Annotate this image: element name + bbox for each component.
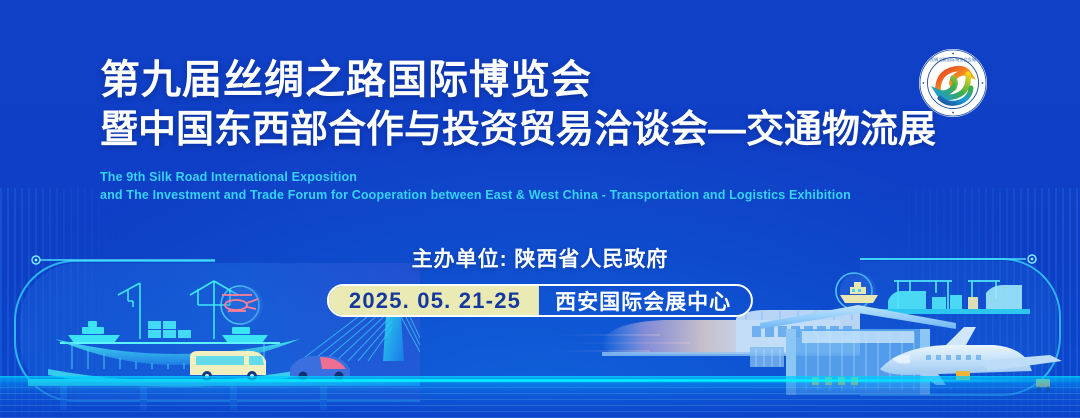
event-venue: 西安国际会展中心 — [539, 286, 751, 315]
subtitle-line-2: and The Investment and Trade Forum for C… — [100, 186, 1030, 204]
svg-text:丝绸之路国际博览会会徽: 丝绸之路国际博览会会徽 — [930, 56, 977, 63]
english-subtitle: The 9th Silk Road International Expositi… — [100, 168, 1030, 204]
silk-road-expo-logo: 丝绸之路国际博览会会徽 — [918, 48, 988, 118]
date-venue-badge: 2025. 05. 21-25 西安国际会展中心 — [327, 284, 753, 317]
organizer-text: 主办单位: 陕西省人民政府 — [0, 243, 1080, 273]
title-line-1: 第九届丝绸之路国际博览会 — [100, 55, 1000, 105]
title-line-2: 暨中国东西部合作与投资贸易洽谈会—交通物流展 — [100, 105, 1000, 155]
main-title: 第九届丝绸之路国际博览会 暨中国东西部合作与投资贸易洽谈会—交通物流展 — [100, 55, 1000, 155]
expo-banner: 第九届丝绸之路国际博览会 暨中国东西部合作与投资贸易洽谈会—交通物流展 The … — [0, 0, 1080, 418]
subtitle-line-1: The 9th Silk Road International Expositi… — [100, 168, 1030, 186]
ground-streaks — [0, 384, 1080, 418]
horizon-line — [0, 379, 1080, 382]
event-date: 2025. 05. 21-25 — [329, 286, 539, 315]
